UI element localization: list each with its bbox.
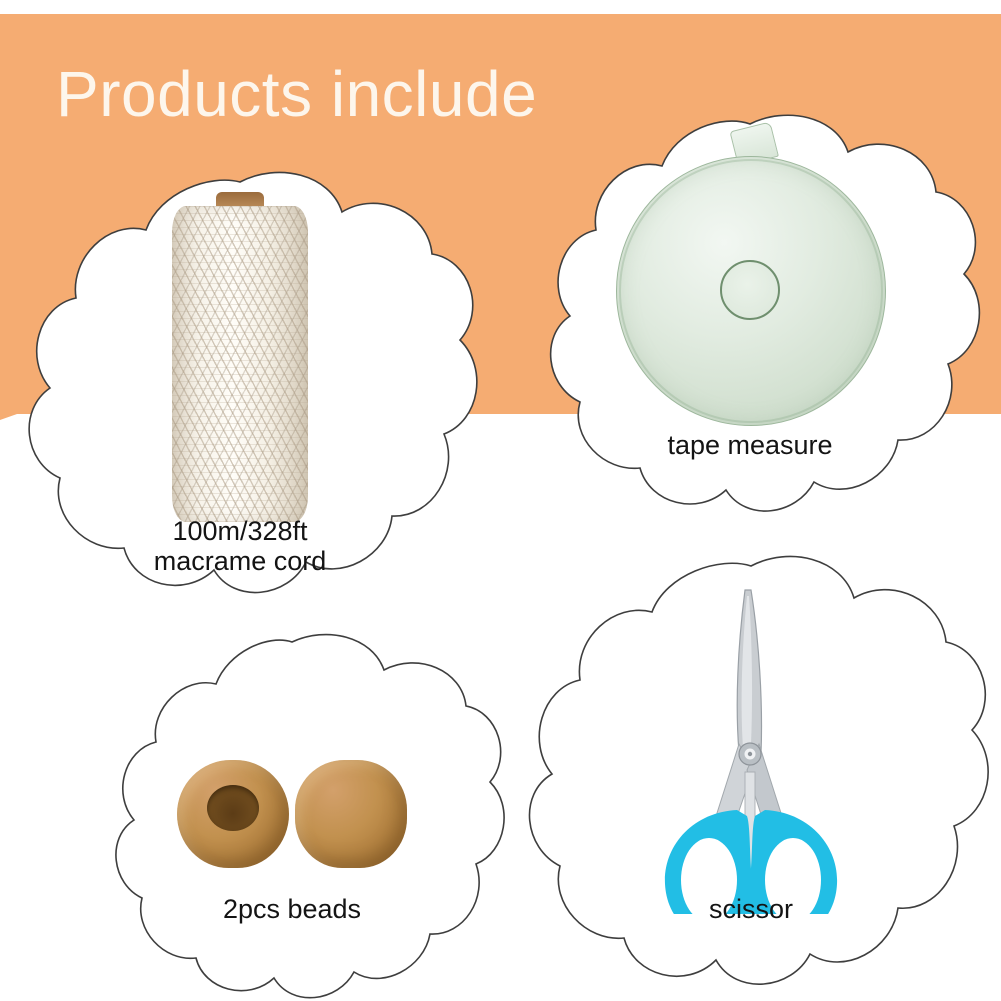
bead-hole	[207, 785, 259, 831]
wooden-beads-icon	[177, 760, 407, 880]
tape-center-hub	[720, 260, 780, 320]
card-beads[interactable]: 2pcs beads	[92, 632, 492, 992]
scissors-icon	[641, 584, 861, 914]
spool-cord-wrap	[172, 206, 308, 522]
caption-beads: 2pcs beads	[92, 894, 492, 924]
page-title: Products include	[56, 62, 537, 126]
cord-spool-icon	[172, 192, 308, 522]
bead-solid	[295, 760, 407, 868]
caption-tape-measure: tape measure	[540, 430, 960, 460]
card-macrame-cord[interactable]: 100m/328ft macrame cord	[30, 168, 450, 598]
caption-macrame-cord: 100m/328ft macrame cord	[30, 516, 450, 576]
card-tape-measure[interactable]: tape measure	[540, 112, 960, 502]
product-infographic: Products include 100m/328ft macrame cord	[0, 0, 1001, 1001]
bead-with-hole	[177, 760, 289, 868]
card-scissor[interactable]: scissor	[532, 552, 970, 990]
tape-measure-icon	[616, 156, 884, 424]
caption-scissor: scissor	[532, 894, 970, 924]
